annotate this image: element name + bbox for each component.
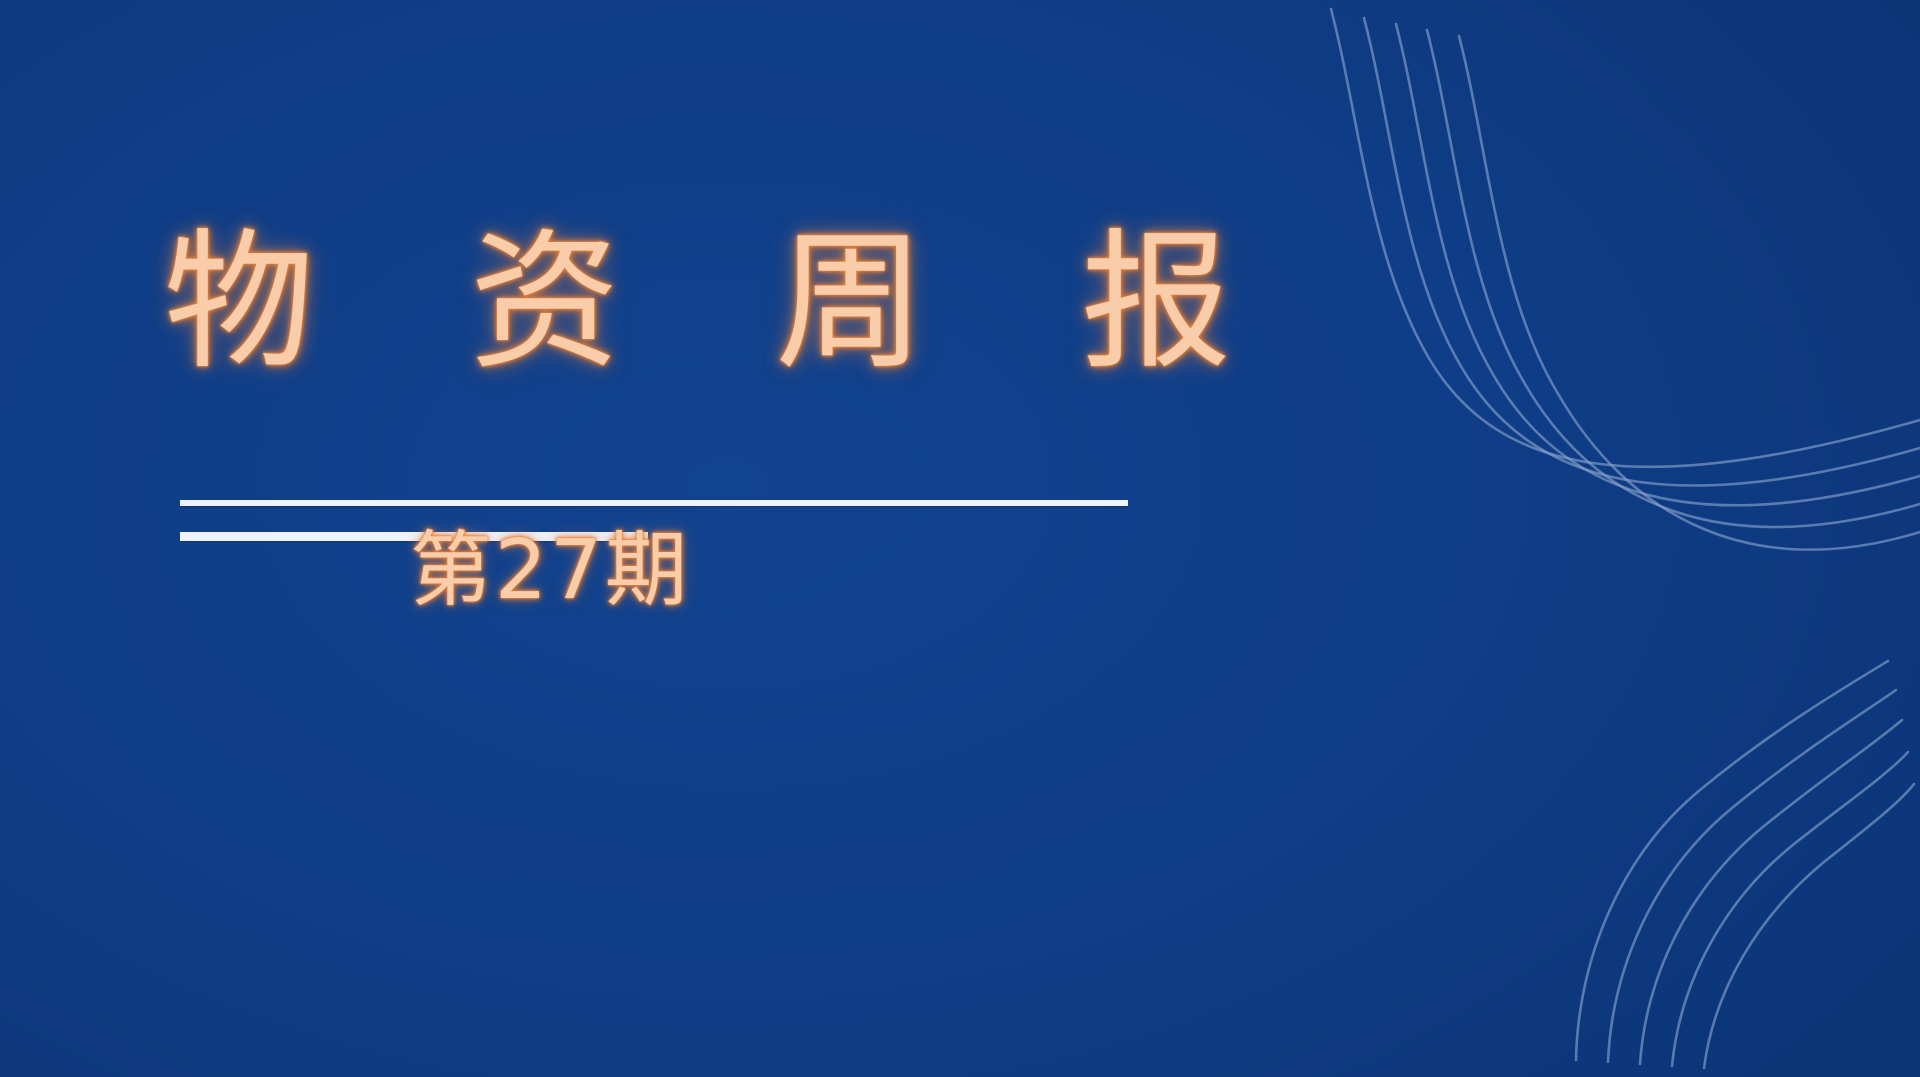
- swoosh-line-2: [1364, 18, 1920, 486]
- page-title: 物 资 周 报: [150, 228, 1250, 378]
- title-block: 物 资 周 报: [150, 228, 1250, 378]
- title-slide: 物 资 周 报 第27期: [0, 0, 1920, 1077]
- arc-line-2: [1608, 690, 1896, 1062]
- swoosh-line-1: [1331, 9, 1920, 467]
- title-rule-upper: [180, 500, 1128, 506]
- arc-line-4: [1672, 752, 1908, 1066]
- arc-line-1: [1576, 661, 1888, 1060]
- swoosh-line-3: [1396, 24, 1920, 505]
- arc-line-3: [1640, 720, 1902, 1064]
- swoosh-line-5: [1459, 36, 1920, 550]
- arc-line-5: [1704, 784, 1914, 1068]
- issue-subtitle: 第27期: [150, 530, 950, 612]
- swoosh-line-4: [1427, 30, 1920, 527]
